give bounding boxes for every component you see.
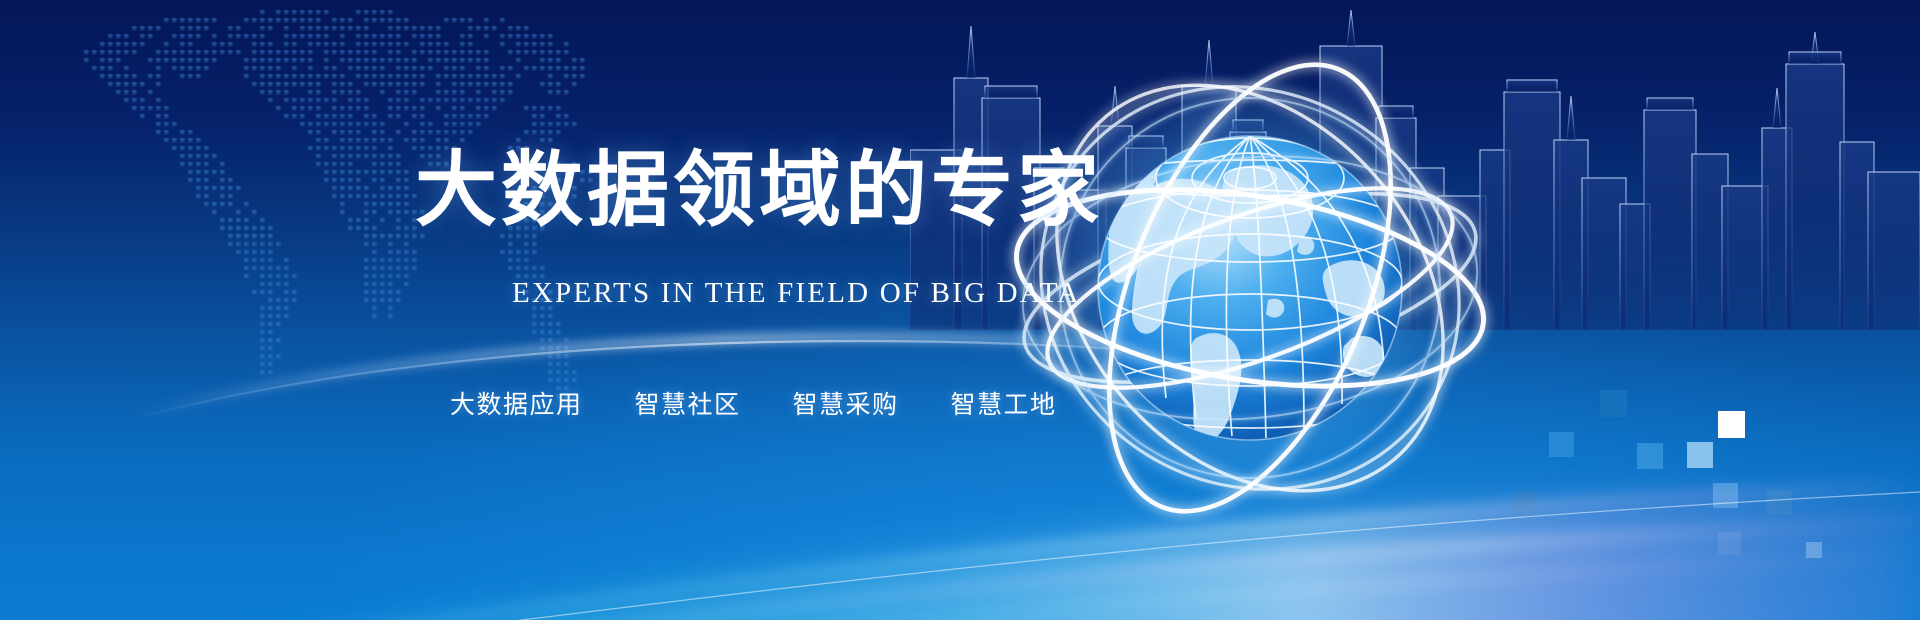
floating-square-1	[1718, 411, 1745, 438]
category-nav: 大数据应用智慧社区智慧采购智慧工地	[450, 385, 1057, 421]
floating-square-6	[1767, 490, 1792, 515]
floating-square-9	[1806, 542, 1822, 558]
page-subtitle: EXPERTS IN THE FIELD OF BIG DATA	[512, 277, 1080, 310]
nav-item-1[interactable]: 智慧社区	[635, 385, 741, 421]
hero-copy: 大数据领域的专家 EXPERTS IN THE FIELD OF BIG DAT…	[0, 0, 1080, 620]
page-title: 大数据领域的专家	[415, 150, 1103, 232]
nav-item-0[interactable]: 大数据应用	[450, 385, 583, 421]
floating-square-0	[1600, 390, 1627, 417]
floating-square-8	[1718, 532, 1741, 555]
nav-item-3[interactable]: 智慧工地	[951, 385, 1057, 421]
nav-item-2[interactable]: 智慧采购	[793, 385, 899, 421]
hero-banner: 大数据领域的专家 EXPERTS IN THE FIELD OF BIG DAT…	[0, 0, 1920, 620]
floating-square-3	[1637, 443, 1663, 469]
floating-square-7	[1513, 491, 1537, 515]
floating-square-5	[1713, 483, 1738, 508]
floating-square-2	[1549, 432, 1574, 457]
floating-square-4	[1687, 442, 1713, 468]
